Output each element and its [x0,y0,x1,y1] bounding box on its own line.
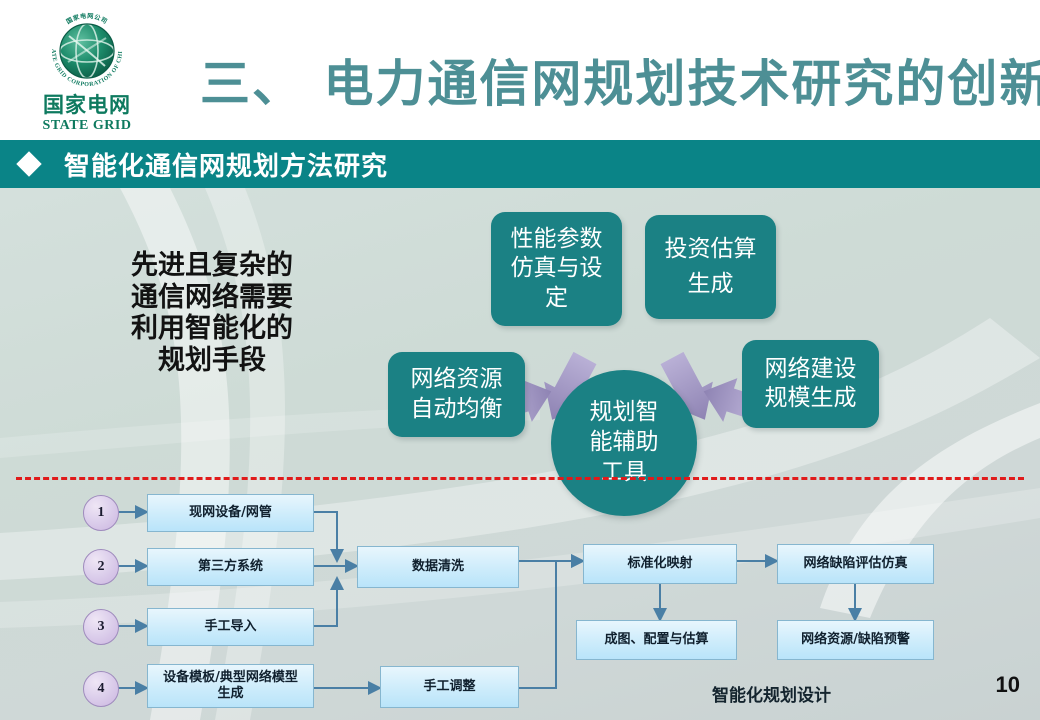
bubble-investment-line-2: 生成 [665,270,757,299]
bubble-perf-sim[interactable]: 性能参数 仿真与设 定 [491,212,622,326]
logo-en-name: STATE GRID [22,118,152,134]
slide-root: 国家电网公司 STATE GRID CORPORATION OF CHINA 国… [0,0,1040,720]
bubble-perf-sim-line-3: 定 [511,284,603,313]
logo-cn-name: 国家电网 [22,95,152,116]
flow-step-number-1[interactable]: 1 [83,495,119,531]
bubble-build-scale-line-1: 网络建设 [765,355,857,384]
center-node-line-3: 工具 [590,458,659,488]
flow-box-chart-config-estimate[interactable]: 成图、配置与估算 [576,620,737,660]
bubble-investment[interactable]: 投资估算 生成 [645,215,776,319]
flow-step-number-3-label: 3 [98,619,105,635]
section-bar: 智能化通信网规划方法研究 [0,140,1040,188]
flow-step-number-2[interactable]: 2 [83,549,119,585]
headline-line-4: 规划手段 [82,345,342,377]
diamond-icon [16,151,41,176]
headline-text: 先进且复杂的 通信网络需要 利用智能化的 规划手段 [82,250,342,376]
flow-box-manual-import[interactable]: 手工导入 [147,608,314,646]
bubble-resource-balance-line-1: 网络资源 [411,365,503,394]
flow-step-number-3[interactable]: 3 [83,609,119,645]
flow-box-data-clean[interactable]: 数据清洗 [357,546,519,588]
flow-box-standard-mapping[interactable]: 标准化映射 [583,544,737,584]
section-divider [16,477,1024,480]
bubble-investment-line-1: 投资估算 [665,235,757,264]
bubble-perf-sim-line-2: 仿真与设 [511,254,603,283]
center-node-line-1: 规划智 [590,398,659,428]
bubble-build-scale[interactable]: 网络建设 规模生成 [742,340,879,428]
center-node-line-2: 能辅助 [590,428,659,458]
flow-step-number-2-label: 2 [98,559,105,575]
flow-box-template-gen-line-2: 生成 [163,686,298,702]
flow-box-template-gen[interactable]: 设备模板/典型网络模型 生成 [147,664,314,708]
bubble-resource-balance-line-2: 自动均衡 [411,395,503,424]
headline-line-1: 先进且复杂的 [82,250,342,282]
bubble-perf-sim-line-1: 性能参数 [511,225,603,254]
flow-box-existing-network[interactable]: 现网设备/网管 [147,494,314,532]
headline-line-2: 通信网络需要 [82,282,342,314]
slide-header: 国家电网公司 STATE GRID CORPORATION OF CHINA 国… [0,0,1040,140]
section-title: 智能化通信网规划方法研究 [64,146,388,183]
bubble-build-scale-line-2: 规模生成 [765,384,857,413]
globe-icon: 国家电网公司 STATE GRID CORPORATION OF CHINA [44,8,130,94]
flow-box-template-gen-line-1: 设备模板/典型网络模型 [163,670,298,686]
flow-box-resource-warning[interactable]: 网络资源/缺陷预警 [777,620,934,660]
page-number: 10 [996,672,1020,698]
footer-caption: 智能化规划设计 [712,681,831,706]
page-title: 三、 电力通信网规划技术研究的创新 [200,44,1020,116]
center-node[interactable]: 规划智 能辅助 工具 [551,370,697,516]
flow-box-defect-simulation[interactable]: 网络缺陷评估仿真 [777,544,934,584]
headline-line-3: 利用智能化的 [82,313,342,345]
flow-box-third-party[interactable]: 第三方系统 [147,548,314,586]
state-grid-logo: 国家电网公司 STATE GRID CORPORATION OF CHINA 国… [22,8,152,134]
flow-step-number-4-label: 4 [98,681,105,697]
flow-step-number-1-label: 1 [98,505,105,521]
flow-box-manual-adjust[interactable]: 手工调整 [380,666,519,708]
flow-step-number-4[interactable]: 4 [83,671,119,707]
bubble-resource-balance[interactable]: 网络资源 自动均衡 [388,352,525,437]
